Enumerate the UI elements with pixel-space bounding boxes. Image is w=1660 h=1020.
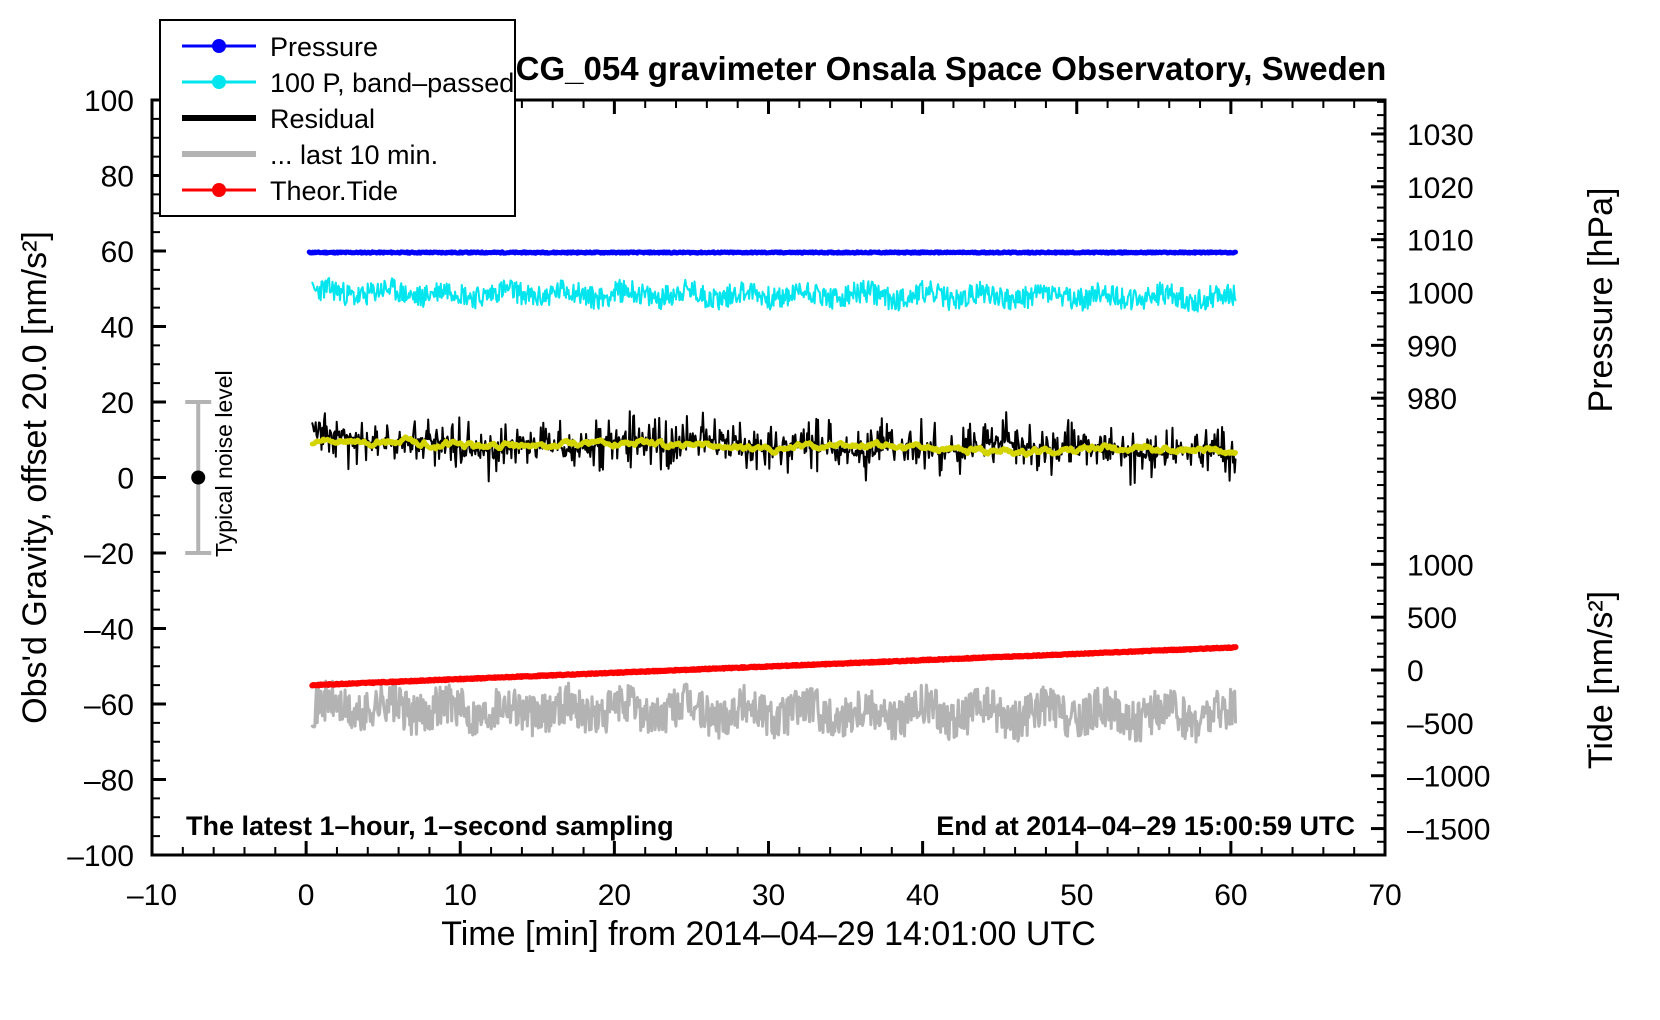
noise-level-dot <box>191 471 205 485</box>
legend-label-3: ... last 10 min. <box>270 140 438 170</box>
x-tick-label: 50 <box>1060 879 1093 912</box>
tide-axis-label: 500 <box>1407 602 1457 635</box>
x-tick-label: 40 <box>906 879 939 912</box>
tide-axis-label: –500 <box>1407 708 1474 741</box>
y-tick-label: 100 <box>84 85 134 118</box>
legend-label-1: 100 P, band–passed <box>270 68 514 98</box>
tide-axis-label: 0 <box>1407 655 1424 688</box>
y-tick-label: –40 <box>84 614 134 647</box>
y-tick-label: 40 <box>101 312 134 345</box>
x-tick-label: 60 <box>1214 879 1247 912</box>
y-axis-title: Obs'd Gravity, offset 20.0 [nm/s²] <box>16 231 54 724</box>
y-tick-label: 80 <box>101 161 134 194</box>
annotation-latest-sampling: The latest 1–hour, 1–second sampling <box>186 811 674 841</box>
x-tick-label: 20 <box>598 879 631 912</box>
y-tick-label: 0 <box>117 463 134 496</box>
y-tick-label: 20 <box>101 387 134 420</box>
tide-axis-label: –1000 <box>1407 761 1490 794</box>
tide-axis-title: Tide [nm/s²] <box>1582 591 1620 769</box>
x-tick-label: 70 <box>1368 879 1401 912</box>
trace-last-10-min <box>312 681 1235 742</box>
y-tick-label: 60 <box>101 236 134 269</box>
pressure-axis-label: 980 <box>1407 383 1457 416</box>
y-tick-label: –80 <box>84 765 134 798</box>
x-tick-label: 30 <box>752 879 785 912</box>
noise-level-label: Typical noise level <box>211 370 237 557</box>
plot-canvas: –10010203040506070100806040200–20–40–60–… <box>0 0 1660 1020</box>
annotation-end-time: End at 2014–04–29 15:00:59 UTC <box>936 811 1355 841</box>
pressure-axis-label: 1020 <box>1407 172 1474 205</box>
tide-axis-label: –1500 <box>1407 814 1490 847</box>
pressure-axis-label: 1010 <box>1407 225 1474 258</box>
legend-marker-1 <box>212 75 226 89</box>
legend-marker-4 <box>212 183 226 197</box>
legend-label-2: Residual <box>270 104 375 134</box>
trace-pressure <box>309 252 1235 253</box>
chart-title: SCG_054 gravimeter Onsala Space Observat… <box>494 50 1387 87</box>
y-tick-label: –100 <box>67 840 134 873</box>
x-axis-title: Time [min] from 2014–04–29 14:01:00 UTC <box>441 915 1096 953</box>
x-tick-label: 10 <box>444 879 477 912</box>
tide-axis-label: 1000 <box>1407 549 1474 582</box>
pressure-axis-label: 990 <box>1407 330 1457 363</box>
pressure-axis-title: Pressure [hPa] <box>1582 188 1620 413</box>
gravimeter-plot-page: –10010203040506070100806040200–20–40–60–… <box>0 0 1660 1020</box>
trace-100-p-band-passed <box>312 278 1235 312</box>
legend-marker-0 <box>212 39 226 53</box>
x-tick-label: 0 <box>298 879 315 912</box>
legend-label-4: Theor.Tide <box>270 176 398 206</box>
pressure-axis-label: 1000 <box>1407 278 1474 311</box>
legend-label-0: Pressure <box>270 32 378 62</box>
y-tick-label: –20 <box>84 538 134 571</box>
y-tick-label: –60 <box>84 689 134 722</box>
trace-theor-tide <box>312 647 1235 685</box>
x-tick-label: –10 <box>127 879 177 912</box>
pressure-axis-label: 1030 <box>1407 119 1474 152</box>
